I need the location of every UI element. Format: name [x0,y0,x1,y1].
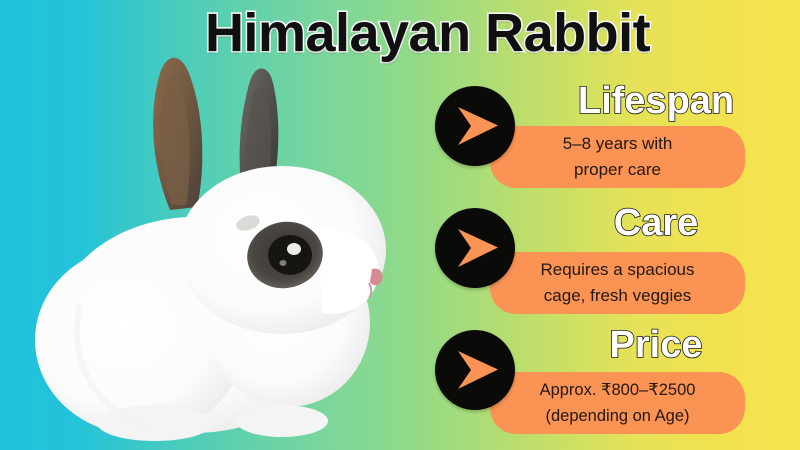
fact-description: Requires a spacious cage, fresh veggies [490,252,745,314]
rabbit-ear-far [153,58,202,210]
infographic-card: Himalayan Rabbit [0,0,800,450]
fact-description-line: Approx. ₹800–₹2500 [540,377,696,403]
rabbit-foot-front [236,405,328,437]
fact-description-line: cage, fresh veggies [544,283,691,309]
fact-row-lifespan: Lifespan 5–8 years with proper care [430,78,790,198]
fact-description-line: 5–8 years with [563,131,673,157]
rabbit-nose [370,269,383,286]
fact-row-price: Price Approx. ₹800–₹2500 (depending on A… [430,322,790,444]
fact-description-line: (depending on Age) [545,403,689,429]
fact-description-line: proper care [574,157,661,183]
rabbit-image [20,55,430,450]
facts-list: Lifespan 5–8 years with proper care Care… [430,78,790,446]
fact-description: 5–8 years with proper care [490,126,745,188]
page-title: Himalayan Rabbit [0,2,800,64]
fact-description: Approx. ₹800–₹2500 (depending on Age) [490,372,745,434]
fact-row-care: Care Requires a spacious cage, fresh veg… [430,200,790,320]
fact-heading: Care [522,200,790,246]
fact-heading: Lifespan [522,78,790,124]
fact-description-line: Requires a spacious [540,257,694,283]
fact-heading: Price [522,322,790,368]
